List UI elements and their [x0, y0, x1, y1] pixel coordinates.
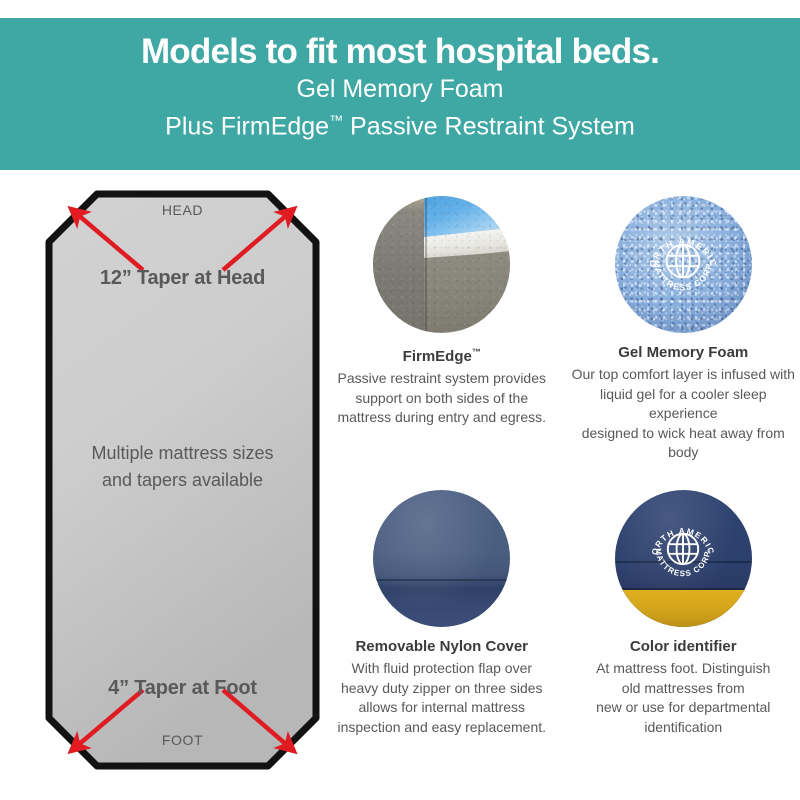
feature-desc-color-identifier: At mattress foot. Distinguish old mattre…	[569, 659, 797, 737]
nylon-cover-image-layers	[373, 490, 510, 627]
color-identifier-photo: NORTH AMERICA MATTRESS CORP.	[615, 490, 752, 627]
subtitle-line-2: Plus FirmEdge™ Passive Restraint System	[0, 105, 800, 142]
desc-line: With fluid protection flap over	[328, 659, 556, 679]
feature-card-gel-memory-foam: NORTH AMERICA MATTRESS CORP. Gel Memory …	[567, 196, 800, 482]
feature-desc-firmedge: Passive restraint system provides suppor…	[328, 369, 556, 428]
feature-title-gel-memory-foam: Gel Memory Foam	[618, 343, 748, 362]
subtitle-line-2-post: Passive Restraint System	[343, 112, 635, 140]
subtitle-line-2-pre: Plus FirmEdge	[165, 112, 329, 140]
desc-line: At mattress foot. Distinguish	[569, 659, 797, 679]
north-america-mattress-corp-logo: NORTH AMERICA MATTRESS CORP.	[640, 218, 726, 304]
feature-title-color-identifier: Color identifier	[630, 637, 737, 656]
desc-line: new or use for departmental	[569, 698, 797, 718]
firmedge-foam-cross-section-photo	[373, 196, 510, 333]
feature-card-removable-nylon-cover: Removable Nylon Cover With fluid protect…	[325, 490, 559, 776]
trademark-icon: ™	[472, 347, 481, 357]
taper-foot-label: 4” Taper at Foot	[45, 677, 320, 700]
nylon-cover-seam	[373, 579, 510, 581]
desc-line: inspection and easy replacement.	[328, 718, 556, 738]
desc-line: designed to wick heat away from body	[569, 424, 797, 463]
feature-title-firmedge: FirmEdge™	[403, 343, 481, 366]
feature-title-text: Gel Memory Foam	[618, 344, 748, 361]
desc-line: mattress during entry and egress.	[328, 408, 556, 428]
feature-title-text: Removable Nylon Cover	[355, 638, 528, 655]
mattress-center-note-line-2: and tapers available	[45, 467, 320, 494]
removable-nylon-cover-photo	[373, 490, 510, 627]
desc-line: identification	[569, 718, 797, 738]
desc-line: support on both sides of the	[328, 389, 556, 409]
nylon-cover-sheen	[373, 490, 510, 627]
page-title: Models to fit most hospital beds.	[0, 30, 800, 74]
feature-card-firmedge: FirmEdge™ Passive restraint system provi…	[325, 196, 559, 482]
firmedge-image-layers	[373, 196, 510, 333]
desc-line: Our top comfort layer is infused with	[569, 365, 797, 385]
feature-title-removable-nylon-cover: Removable Nylon Cover	[355, 637, 528, 656]
feature-desc-gel-memory-foam: Our top comfort layer is infused with li…	[569, 365, 797, 463]
desc-line: liquid gel for a cooler sleep experience	[569, 385, 797, 424]
feature-desc-removable-nylon-cover: With fluid protection flap over heavy du…	[328, 659, 556, 737]
gel-memory-foam-photo: NORTH AMERICA MATTRESS CORP.	[615, 196, 752, 333]
desc-line: allows for internal mattress	[328, 698, 556, 718]
foot-label: FOOT	[45, 732, 320, 748]
desc-line: heavy duty zipper on three sides	[328, 679, 556, 699]
taper-head-label: 12” Taper at Head	[45, 267, 320, 290]
trademark-icon: ™	[329, 112, 343, 128]
infographic-page: Models to fit most hospital beds. Gel Me…	[0, 0, 800, 800]
header-banner: Models to fit most hospital beds. Gel Me…	[0, 18, 800, 170]
feature-title-text: Color identifier	[630, 638, 737, 655]
feature-title-text: FirmEdge	[403, 348, 472, 365]
feature-grid: FirmEdge™ Passive restraint system provi…	[325, 196, 800, 776]
mattress-center-note: Multiple mattress sizes and tapers avail…	[45, 440, 320, 494]
feature-card-color-identifier: NORTH AMERICA MATTRESS CORP. Color ident…	[567, 490, 800, 776]
desc-line: old mattresses from	[569, 679, 797, 699]
mattress-diagram: HEAD 12” Taper at Head Multiple mattress…	[45, 190, 320, 770]
foam-texture-overlay	[373, 196, 510, 333]
head-label: HEAD	[45, 202, 320, 218]
subtitle-line-1: Gel Memory Foam	[0, 74, 800, 105]
north-america-mattress-corp-logo: NORTH AMERICA MATTRESS CORP.	[643, 509, 723, 589]
gold-color-band	[615, 590, 752, 627]
mattress-center-note-line-1: Multiple mattress sizes	[45, 440, 320, 467]
desc-line: Passive restraint system provides	[328, 369, 556, 389]
